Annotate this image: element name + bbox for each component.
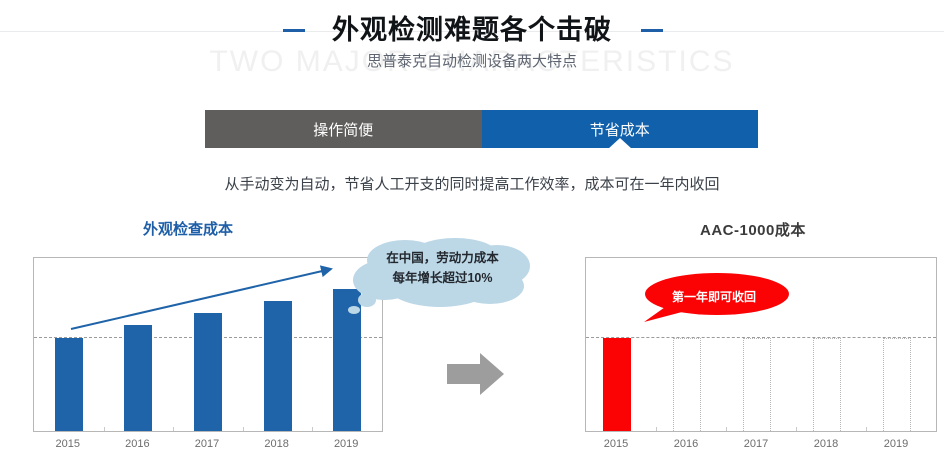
chart-bar [194,313,222,431]
axis-tick-label: 2016 [103,438,173,450]
chart-bar [673,338,701,432]
cloud-line-1: 在中国，劳动力成本 [355,248,530,268]
page-title: 外观检测难题各个击破 [0,8,944,47]
axis-tick-label: 2019 [311,438,381,450]
axis-tick [866,427,867,431]
right-chart-title: AAC-1000成本 [700,219,806,240]
axis-tick-label: 2018 [242,438,312,450]
chart-bar [603,338,631,432]
axis-tick [312,427,313,431]
page-subtitle: 思普泰克自动检测设备两大特点 [0,50,944,71]
axis-tick [104,427,105,431]
tab-save-cost[interactable]: 节省成本 [482,110,759,148]
chart-bar [264,301,292,431]
tab-operation-simple[interactable]: 操作简便 [205,110,482,148]
slide-canvas: TWO MAJOR CHARACTERISTICS 外观检测难题各个击破 思普泰… [0,0,944,467]
tab-label: 操作简便 [313,119,373,140]
lead-statement: 从手动变为自动，节省人工开支的同时提高工作效率，成本可在一年内收回 [0,173,944,194]
left-chart-x-axis-labels: 20152016201720182019 [33,438,383,456]
axis-tick [726,427,727,431]
axis-tick-label: 2018 [791,438,861,450]
cloud-callout-text: 在中国，劳动力成本 每年增长超过10% [355,248,530,288]
tab-active-pointer-icon [608,138,632,149]
axis-tick [656,427,657,431]
chart-bar [813,338,841,432]
chart-bar [55,338,83,432]
axis-tick-label: 2015 [581,438,651,450]
right-chart-x-axis-labels: 20152016201720182019 [585,438,937,456]
chart-bar [124,325,152,431]
tab-label: 节省成本 [590,119,650,140]
left-chart-title: 外观检查成本 [143,218,233,239]
chart-bar [883,338,911,432]
chart-bar [743,338,771,432]
axis-tick-label: 2015 [33,438,103,450]
left-bar-chart-plot [33,257,383,432]
axis-tick-label: 2017 [172,438,242,450]
transition-arrow-icon [447,350,505,398]
cloud-line-2: 每年增长超过10% [355,268,530,288]
axis-tick-label: 2019 [861,438,931,450]
axis-tick-label: 2016 [651,438,721,450]
tab-bar: 操作简便 节省成本 [205,110,758,148]
axis-tick [243,427,244,431]
speech-bubble-text: 第一年即可收回 [640,288,788,305]
axis-tick-label: 2017 [721,438,791,450]
axis-tick [796,427,797,431]
axis-tick [173,427,174,431]
